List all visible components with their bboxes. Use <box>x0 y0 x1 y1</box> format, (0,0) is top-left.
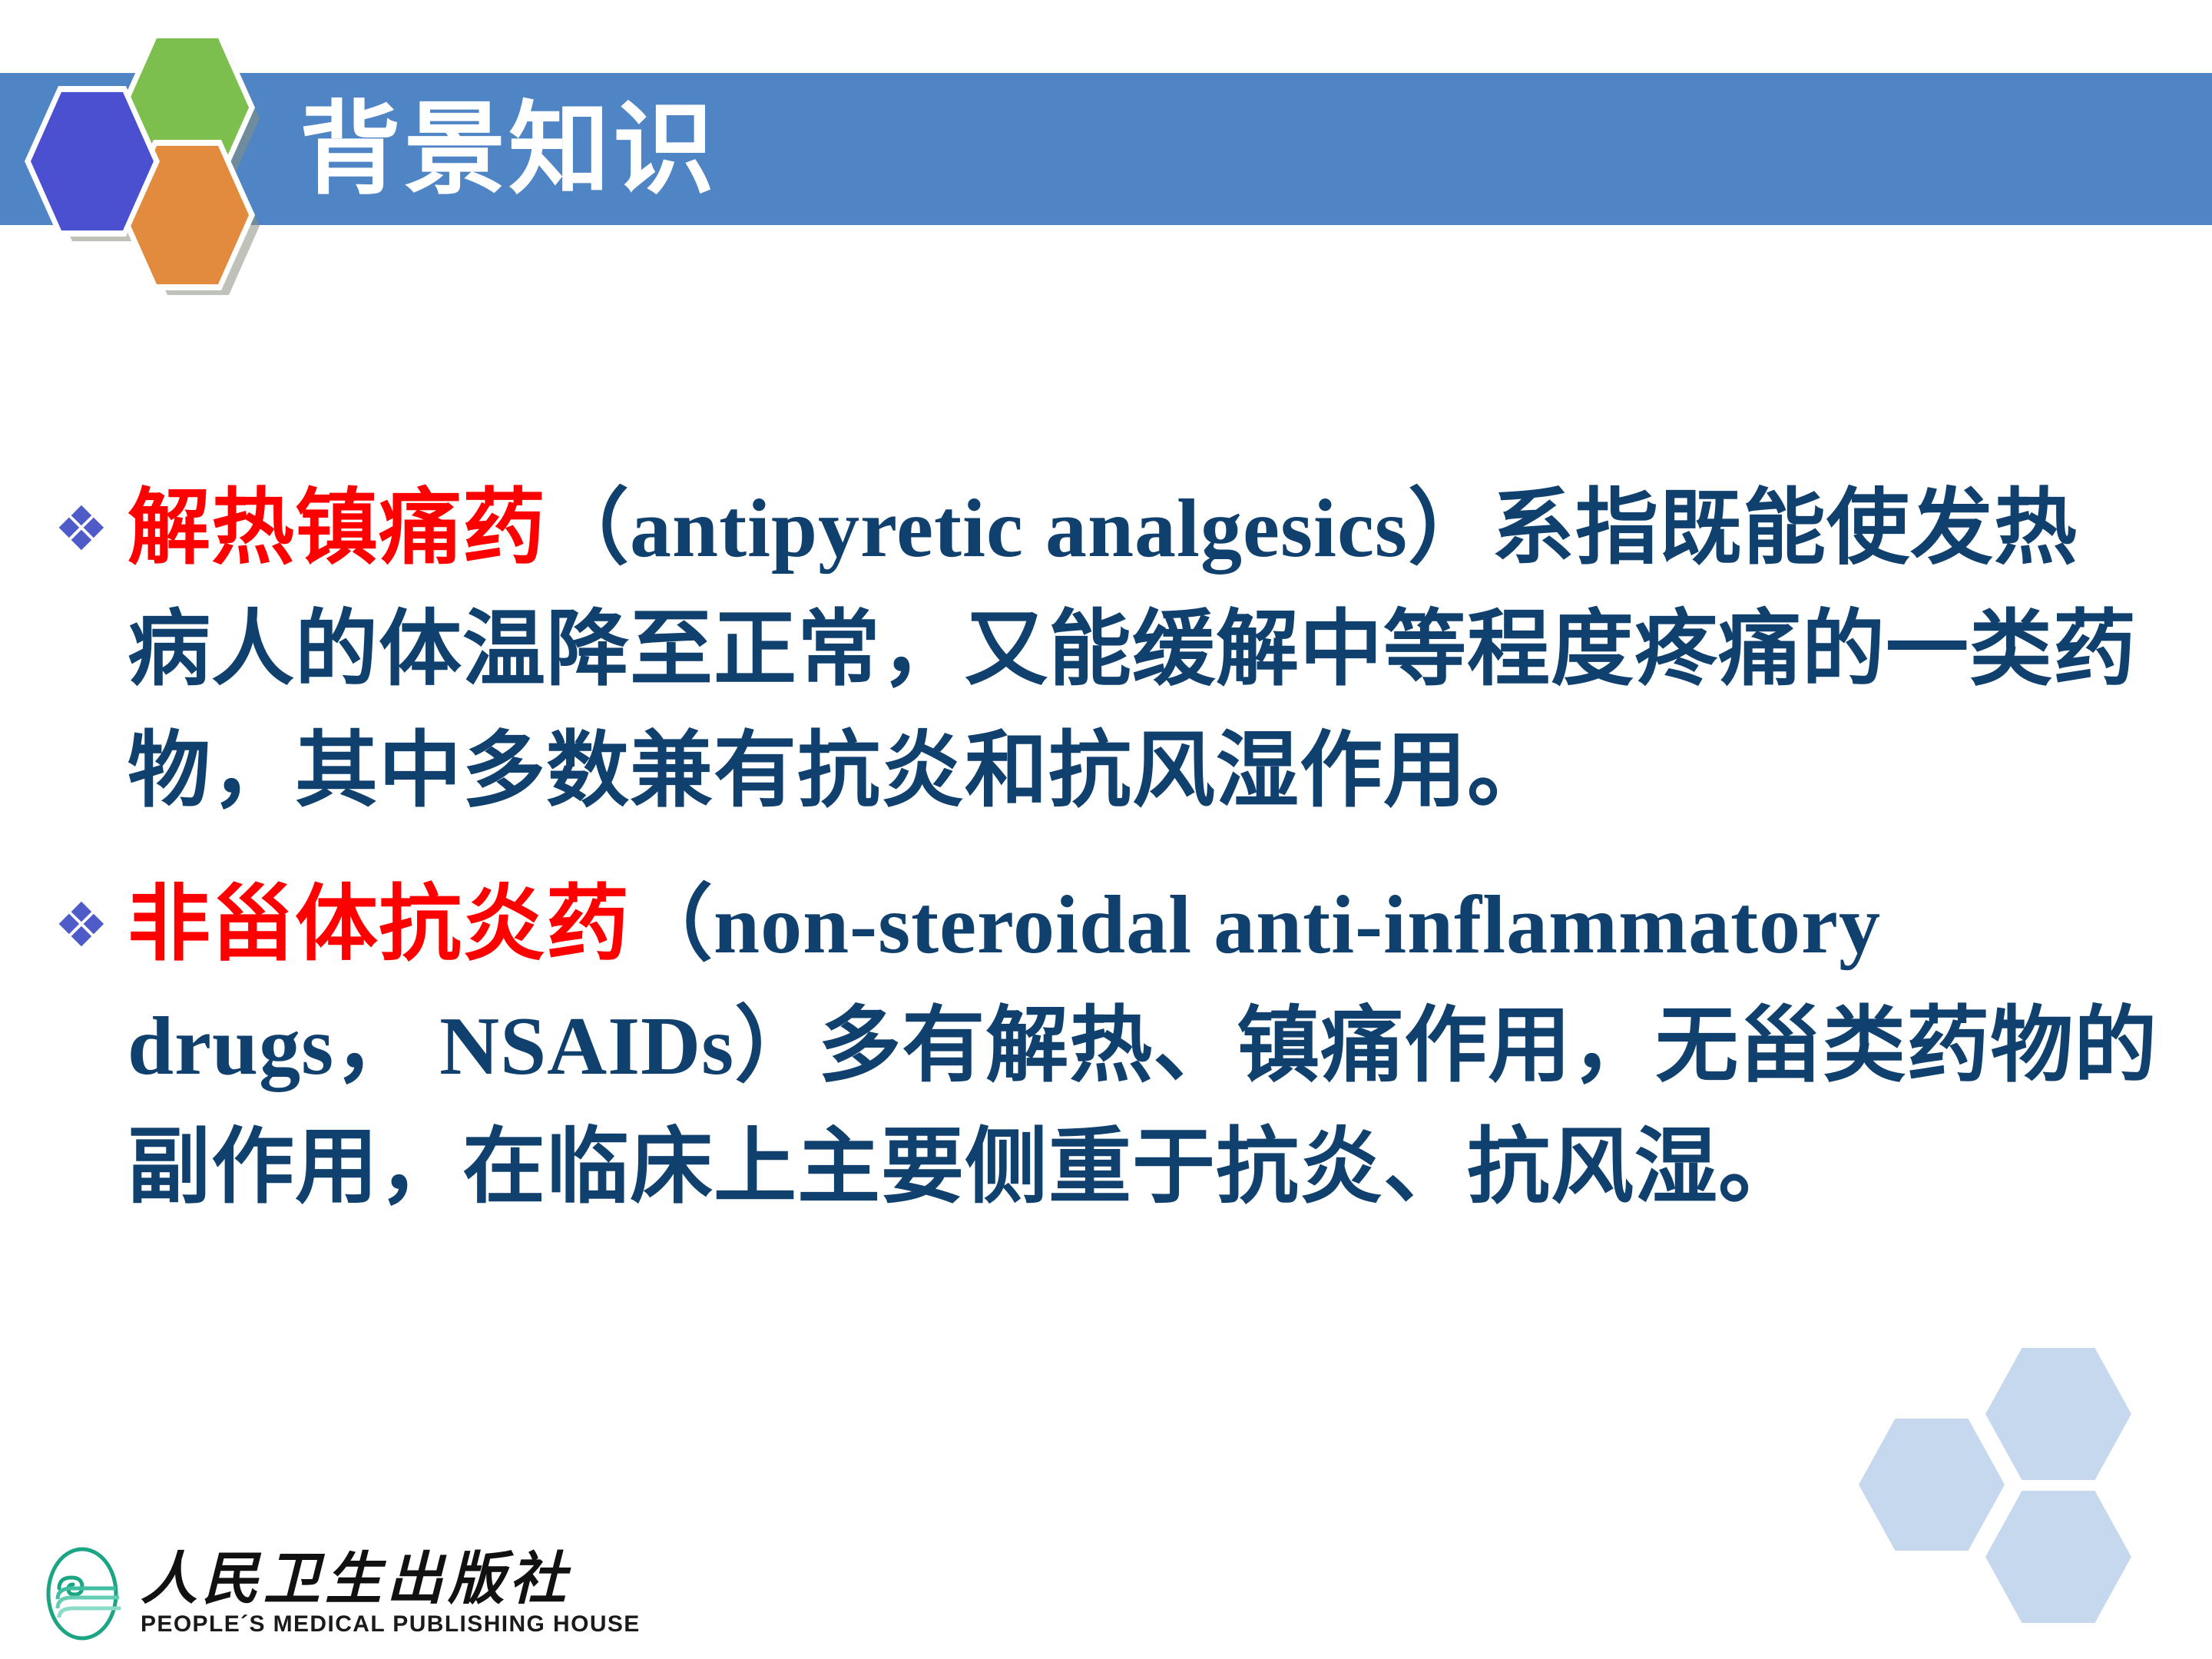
diamond-bullet-icon: ❖ <box>54 469 127 590</box>
publisher-emblem-icon <box>42 1544 128 1644</box>
bullet-paragraph: 解热镇痛药（antipyretic analgesics）系指既能使发热病人的体… <box>127 469 2158 833</box>
bullet-item: ❖ 解热镇痛药（antipyretic analgesics）系指既能使发热病人… <box>54 469 2158 833</box>
diamond-bullet-icon: ❖ <box>54 865 127 986</box>
header-logo-hexagons <box>15 15 292 292</box>
publisher-logo: 人民卫生出版社 PEOPLE´S MEDICAL PUBLISHING HOUS… <box>42 1540 657 1647</box>
bullet-paragraph: 非甾体抗炎药（non-steroidal anti-inflammatory d… <box>127 865 2158 1229</box>
decorative-hexagon-top-icon <box>1985 1348 2131 1480</box>
publisher-name-cn: 人民卫生出版社 <box>141 1549 657 1611</box>
publisher-wordmark: 人民卫生出版社 PEOPLE´S MEDICAL PUBLISHING HOUS… <box>141 1549 657 1638</box>
decorative-hexagons <box>1859 1348 2181 1655</box>
decorative-hexagon-bottom-icon <box>1985 1491 2131 1623</box>
slide-title: 背景知识 <box>300 84 1375 215</box>
publisher-name-en: PEOPLE´S MEDICAL PUBLISHING HOUSE <box>141 1611 657 1638</box>
bullet-term-highlight: 解热镇痛药 <box>127 483 546 575</box>
decorative-hexagon-left-icon <box>1859 1419 2005 1551</box>
bullet-item: ❖ 非甾体抗炎药（non-steroidal anti-inflammatory… <box>54 865 2158 1229</box>
slide-body: ❖ 解热镇痛药（antipyretic analgesics）系指既能使发热病人… <box>54 469 2158 1261</box>
bullet-term-highlight: 非甾体抗炎药 <box>127 879 630 971</box>
